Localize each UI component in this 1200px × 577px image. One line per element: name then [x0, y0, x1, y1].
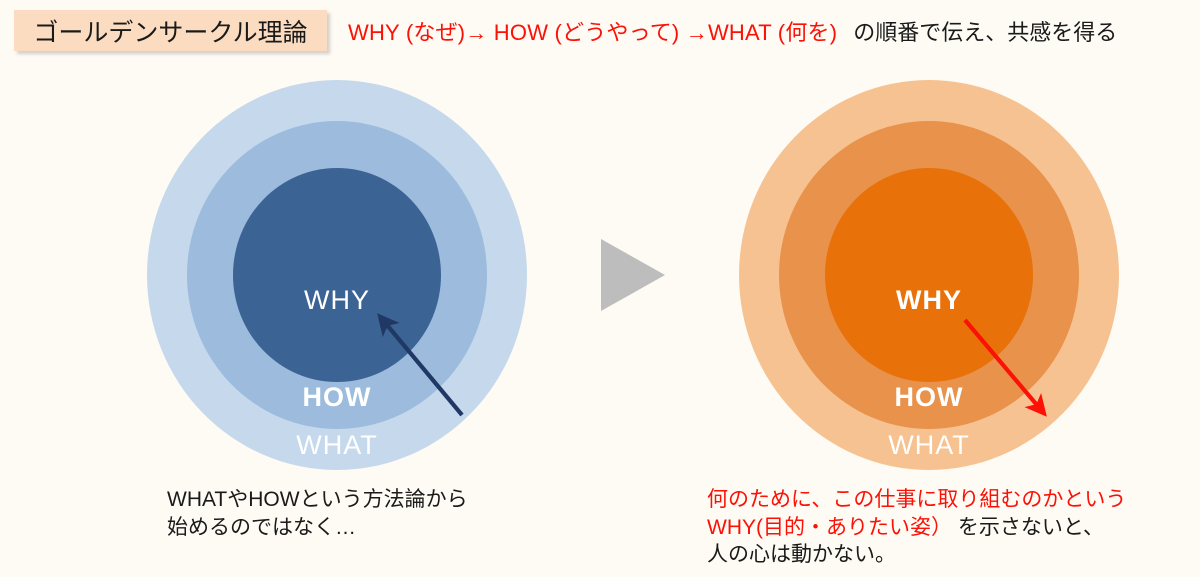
caption-right-line-3-text: 人の心は動かない。	[707, 543, 896, 566]
caption-right-line-2-red: WHY(目的・ありたい姿）	[707, 516, 952, 539]
caption-right: 何のために、この仕事に取り組むのかという WHY(目的・ありたい姿） を示さない…	[707, 486, 1126, 569]
play-triangle-icon	[601, 239, 665, 311]
caption-left-line-1: WHATやHOWという方法論から	[167, 486, 468, 514]
slide-canvas: ゴールデンサークル理論 WHY (なぜ)→ HOW (どうやって) →WHAT …	[0, 0, 1200, 577]
golden-circle-diagram-blue: WHY HOW WHAT	[147, 80, 527, 470]
outward-arrow-orange	[739, 80, 1119, 470]
caption-left-line-2: 始めるのではなく…	[167, 514, 468, 542]
caption-right-line-1-text: 何のために、この仕事に取り組むのかという	[707, 488, 1126, 511]
header-subtitle: WHY (なぜ)→ HOW (どうやって) →WHAT (何を) の順番で伝え、…	[348, 12, 1117, 50]
caption-right-line-2: WHY(目的・ありたい姿） を示さないと、	[707, 514, 1126, 542]
caption-right-line-3: 人の心は動かない。	[707, 541, 1126, 569]
caption-left: WHATやHOWという方法論から 始めるのではなく…	[167, 486, 468, 541]
golden-circle-diagram-orange: WHY HOW WHAT	[739, 80, 1119, 470]
caption-right-line-2-black: を示さないと、	[952, 516, 1104, 539]
golden-circle-sequence-text: WHY (なぜ)→ HOW (どうやって) →WHAT (何を)	[348, 15, 837, 47]
inward-arrow-blue	[147, 80, 527, 470]
page-title: ゴールデンサークル理論	[33, 13, 307, 49]
header-tail-text: の順番で伝え、共感を得る	[853, 15, 1117, 47]
page-title-badge: ゴールデンサークル理論	[14, 10, 327, 51]
caption-right-line-1: 何のために、この仕事に取り組むのかという	[707, 486, 1126, 514]
